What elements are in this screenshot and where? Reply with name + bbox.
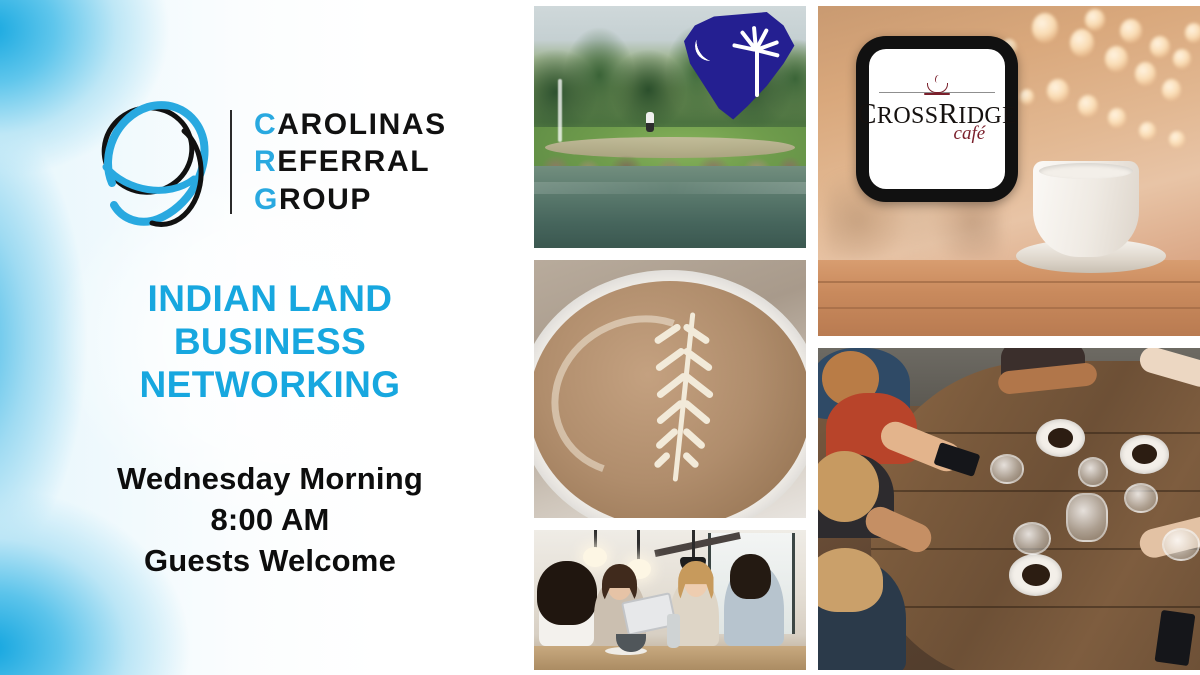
leaf-frond xyxy=(681,399,711,426)
crg-logo: CAROLINAS REFERRAL GROUP xyxy=(96,92,496,232)
palmetto-frond xyxy=(755,48,779,58)
crossridge-initial-c: C xyxy=(857,98,877,130)
headline-line-1: INDIAN LAND xyxy=(40,278,500,321)
event-flyer: CAROLINAS REFERRAL GROUP INDIAN LAND BUS… xyxy=(0,0,1200,675)
logo-word-group: ROUP xyxy=(279,183,372,216)
pendant-lamp-icon xyxy=(692,530,695,558)
event-time: 8:00 AM xyxy=(40,499,500,540)
round-wood-table xyxy=(871,361,1200,670)
crossridge-cafe-logo: CROSSRIDGE café xyxy=(856,36,1018,202)
crescent-moon-icon xyxy=(695,31,725,61)
logo-initial-g: G xyxy=(254,183,279,216)
latte-photo xyxy=(534,260,806,518)
logo-line-referral: REFERRAL xyxy=(254,143,447,180)
group-table-photo xyxy=(818,348,1200,670)
logo-initial-r: R xyxy=(254,145,277,178)
logo-word-referral: EFERRAL xyxy=(277,145,430,178)
wood-plank-line xyxy=(871,606,1200,608)
park-walker xyxy=(646,112,654,132)
water-glass xyxy=(1013,522,1051,555)
crossridge-word-ross: ROSS xyxy=(877,103,939,129)
palmetto-tree-icon xyxy=(731,30,781,98)
leaf-frond xyxy=(681,427,706,450)
logo-line-group: GROUP xyxy=(254,181,447,218)
women-meeting-photo xyxy=(534,530,806,670)
leaf-frond xyxy=(652,450,671,468)
collage-right-column: CROSSRIDGE café xyxy=(818,6,1200,670)
event-headline: INDIAN LAND BUSINESS NETWORKING xyxy=(40,278,500,407)
event-guests-note: Guests Welcome xyxy=(40,540,500,581)
logo-initial-c: C xyxy=(254,108,277,141)
crossridge-logo-inner: CROSSRIDGE café xyxy=(869,49,1005,189)
coffee-cup-icon xyxy=(924,77,950,94)
headline-line-3: NETWORKING xyxy=(40,364,500,407)
wooden-table-surface xyxy=(818,260,1200,336)
person-hair xyxy=(730,554,771,599)
coffee-cup xyxy=(1120,435,1170,474)
leaf-frond xyxy=(654,346,686,372)
water-glass xyxy=(1124,483,1159,513)
person-hair xyxy=(537,561,597,625)
cup-body xyxy=(927,83,948,93)
logo-word-carolinas: AROLINAS xyxy=(277,108,446,141)
south-carolina-flag xyxy=(678,12,798,124)
leaf-frond xyxy=(653,322,682,345)
cup-saucer xyxy=(924,93,950,95)
event-day: Wednesday Morning xyxy=(40,458,500,499)
logo-line-carolinas: CAROLINAS xyxy=(254,106,447,143)
park-fountain xyxy=(558,79,562,142)
park-pond xyxy=(534,166,806,248)
cafe-table xyxy=(534,646,806,670)
white-coffee-cup xyxy=(1033,161,1139,257)
pendant-lamp-icon xyxy=(594,530,597,552)
leaf-frond xyxy=(681,450,700,468)
cafe-cup-photo: CROSSRIDGE café xyxy=(818,6,1200,336)
water-bottle xyxy=(667,614,680,648)
collage-left-column xyxy=(534,6,806,670)
event-details: Wednesday Morning 8:00 AM Guests Welcome xyxy=(40,458,500,582)
park-photo xyxy=(534,6,806,248)
logo-divider xyxy=(230,110,232,214)
coffee-cup xyxy=(1009,554,1062,596)
logo-rule xyxy=(879,92,995,93)
leaf-frond xyxy=(682,322,711,345)
crg-globe-swoosh-icon xyxy=(96,95,216,230)
water-glass xyxy=(1162,528,1200,561)
latte-leaf-art xyxy=(626,312,740,482)
headline-line-2: BUSINESS xyxy=(40,321,500,364)
leaf-frond xyxy=(654,427,679,450)
crossridge-cafe-script: café xyxy=(954,123,986,145)
crossridge-wordmark: CROSSRIDGE xyxy=(857,100,1017,129)
crg-wordmark: CAROLINAS REFERRAL GROUP xyxy=(254,106,447,218)
palmetto-trunk xyxy=(755,48,759,97)
photo-collage: CROSSRIDGE café xyxy=(534,6,1200,670)
pendant-lamp-icon xyxy=(637,530,640,564)
water-carafe xyxy=(1066,493,1108,542)
